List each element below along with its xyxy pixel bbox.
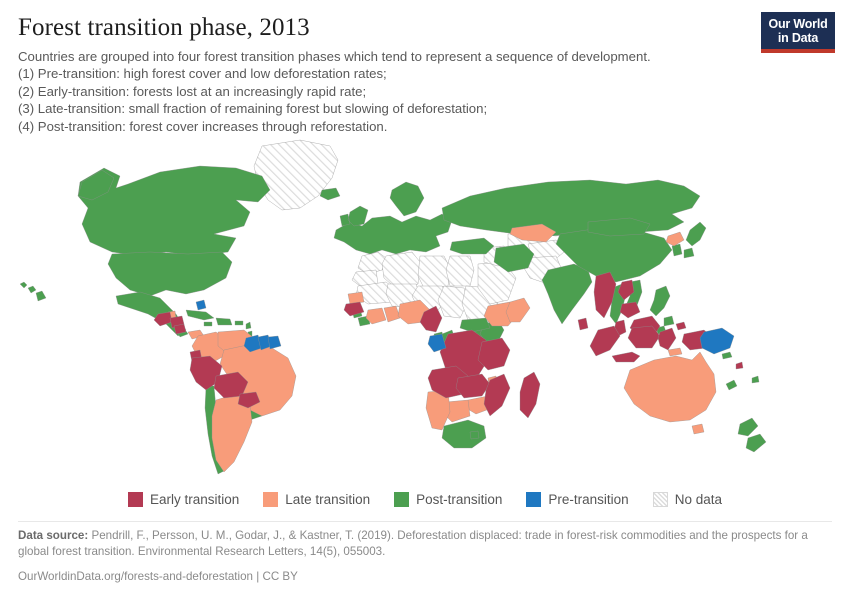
subtitle-line-2: (2) Early-transition: forests lost at an… bbox=[18, 83, 763, 101]
legend-swatch-post-transition bbox=[394, 492, 409, 507]
country-solomon-islands[interactable] bbox=[722, 352, 732, 359]
logo-line-1: Our World bbox=[763, 17, 833, 31]
country-fiji[interactable] bbox=[752, 376, 759, 383]
country-jamaica[interactable] bbox=[204, 322, 212, 326]
legend-swatch-pre-transition bbox=[526, 492, 541, 507]
country-australia[interactable] bbox=[624, 352, 716, 422]
world-map-svg[interactable] bbox=[0, 138, 850, 488]
country-north-korea[interactable] bbox=[666, 232, 684, 246]
legend-label-early-transition: Early transition bbox=[150, 492, 239, 507]
country-madagascar[interactable] bbox=[520, 372, 540, 418]
country-vanuatu[interactable] bbox=[736, 362, 743, 369]
country-india[interactable] bbox=[542, 264, 592, 324]
country-cuba[interactable] bbox=[186, 310, 214, 320]
country-new-zealand[interactable] bbox=[738, 418, 766, 452]
map-legend: Early transition Late transition Post-tr… bbox=[0, 492, 850, 507]
country-libya[interactable] bbox=[418, 256, 450, 288]
country-iceland[interactable] bbox=[320, 188, 340, 200]
chart-subtitle: Countries are grouped into four forest t… bbox=[18, 48, 763, 136]
legend-label-post-transition: Post-transition bbox=[416, 492, 502, 507]
data-source-line: Data source: Pendrill, F., Persson, U. M… bbox=[18, 528, 808, 560]
owid-map-chart: Forest transition phase, 2013 Countries … bbox=[0, 0, 850, 600]
country-indonesia-sumatra[interactable] bbox=[590, 326, 620, 356]
footer-link-line: OurWorldinData.org/forests-and-deforesta… bbox=[18, 569, 808, 585]
legend-swatch-no-data bbox=[653, 492, 668, 507]
country-tasmania[interactable] bbox=[692, 424, 704, 434]
country-somalia[interactable] bbox=[506, 298, 530, 322]
country-uk-ireland[interactable] bbox=[340, 206, 368, 226]
world-map[interactable] bbox=[0, 138, 850, 488]
country-turkey[interactable] bbox=[450, 238, 494, 254]
legend-label-pre-transition: Pre-transition bbox=[548, 492, 628, 507]
country-united-states[interactable] bbox=[108, 252, 232, 296]
page-title: Forest transition phase, 2013 bbox=[18, 14, 832, 42]
country-timor[interactable] bbox=[668, 348, 682, 356]
logo-line-2: in Data bbox=[763, 31, 833, 45]
legend-item-early-transition[interactable]: Early transition bbox=[128, 492, 239, 507]
country-bahamas[interactable] bbox=[196, 300, 206, 310]
country-sri-lanka[interactable] bbox=[578, 318, 588, 330]
chart-footer: Data source: Pendrill, F., Persson, U. M… bbox=[18, 528, 808, 585]
our-world-in-data-logo[interactable]: Our World in Data bbox=[761, 12, 835, 53]
country-nicaragua[interactable] bbox=[174, 324, 186, 334]
country-papua-new-guinea[interactable] bbox=[700, 328, 734, 354]
legend-swatch-early-transition bbox=[128, 492, 143, 507]
country-hispaniola[interactable] bbox=[216, 318, 232, 325]
country-french-guiana[interactable] bbox=[268, 336, 281, 349]
country-mozambique[interactable] bbox=[484, 374, 510, 416]
country-senegal[interactable] bbox=[348, 292, 364, 304]
country-south-africa[interactable] bbox=[442, 420, 486, 448]
country-greenland[interactable] bbox=[254, 140, 338, 210]
country-indonesia-java[interactable] bbox=[612, 352, 640, 362]
country-lesotho[interactable] bbox=[470, 431, 479, 439]
country-scandinavia[interactable] bbox=[390, 182, 424, 216]
legend-item-post-transition[interactable]: Post-transition bbox=[394, 492, 502, 507]
subtitle-line-1: (1) Pre-transition: high forest cover an… bbox=[18, 65, 763, 83]
data-source-label: Data source: bbox=[18, 529, 88, 542]
legend-item-late-transition[interactable]: Late transition bbox=[263, 492, 370, 507]
legend-label-no-data: No data bbox=[675, 492, 722, 507]
legend-item-no-data[interactable]: No data bbox=[653, 492, 722, 507]
country-japan[interactable] bbox=[684, 222, 706, 258]
chart-header: Forest transition phase, 2013 Countries … bbox=[0, 0, 850, 135]
country-new-caledonia[interactable] bbox=[726, 380, 737, 390]
country-puerto-rico[interactable] bbox=[235, 321, 243, 325]
country-russia[interactable] bbox=[442, 180, 700, 236]
subtitle-line-0: Countries are grouped into four forest t… bbox=[18, 48, 763, 66]
subtitle-line-4: (4) Post-transition: forest cover increa… bbox=[18, 118, 763, 136]
country-hawaii[interactable] bbox=[20, 282, 46, 301]
country-indonesia-maluku[interactable] bbox=[676, 322, 686, 330]
legend-item-pre-transition[interactable]: Pre-transition bbox=[526, 492, 628, 507]
owid-url-link[interactable]: OurWorldinData.org/forests-and-deforesta… bbox=[18, 570, 298, 583]
subtitle-line-3: (3) Late-transition: small fraction of r… bbox=[18, 100, 763, 118]
legend-swatch-late-transition bbox=[263, 492, 278, 507]
country-zambia[interactable] bbox=[456, 374, 490, 398]
country-cambodia[interactable] bbox=[620, 302, 640, 318]
legend-label-late-transition: Late transition bbox=[285, 492, 370, 507]
country-ghana[interactable] bbox=[384, 306, 400, 322]
country-egypt[interactable] bbox=[446, 256, 474, 286]
footer-divider bbox=[18, 521, 832, 522]
data-source-text: Pendrill, F., Persson, U. M., Godar, J.,… bbox=[18, 529, 808, 558]
